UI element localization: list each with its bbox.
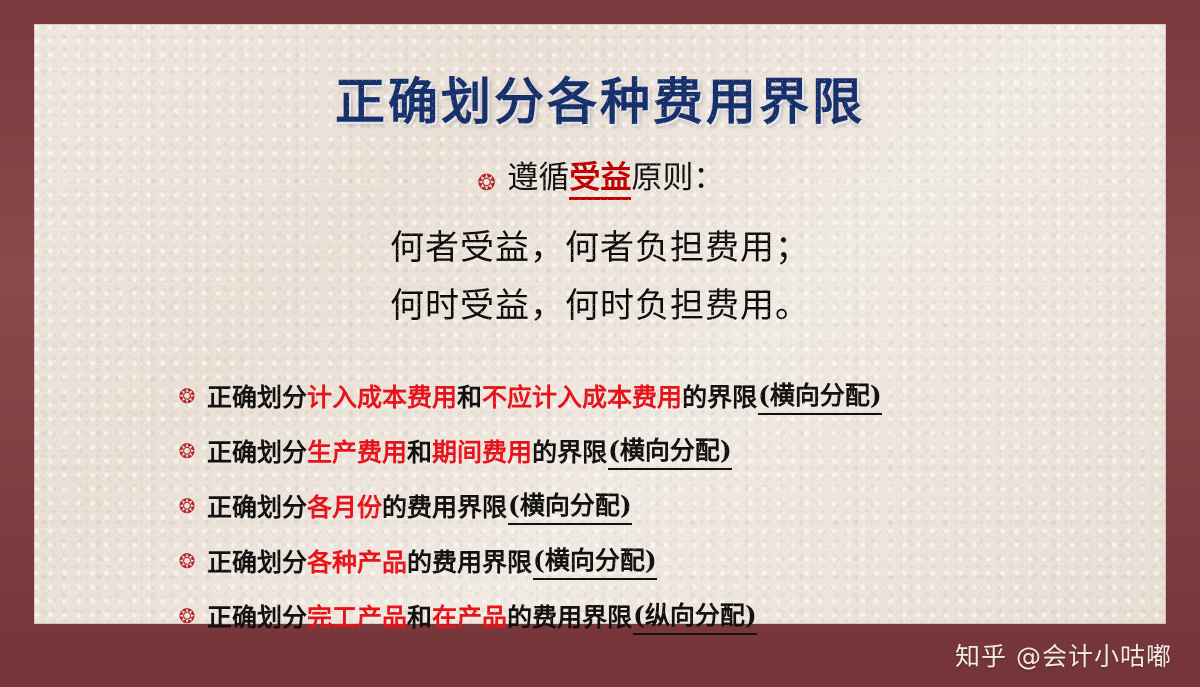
bullet-highlight-1: 各月份 [307, 488, 382, 524]
bullet-suffix: (横向分配) [533, 541, 657, 580]
list-item: ❂ 正确划分完工产品和在产品的费用界限(纵向分配) [176, 588, 1136, 643]
bullet-text-1: 正确划分 [207, 433, 307, 469]
page-title: 正确划分各种费用界限 [34, 62, 1166, 134]
list-item: ❂ 正确划分生产费用和期间费用的界限(横向分配) [176, 423, 1136, 478]
bullet-text-2: 和 [457, 378, 482, 414]
bullet-text-2: 和 [407, 598, 432, 634]
bullet-highlight-1: 各种产品 [307, 543, 407, 579]
bullet-highlight-2: 在产品 [432, 598, 507, 634]
slide-paper: 正确划分各种费用界限 ❂ 遵循受益原则： 何者受益，何者负担费用； 何时受益，何… [34, 24, 1166, 624]
principle-line: ❂ 遵循受益原则： [34, 152, 1166, 197]
bullet-text-1: 正确划分 [207, 378, 307, 414]
bullet-text-2: 和 [407, 433, 432, 469]
list-item: ❂ 正确划分各种产品的费用界限(横向分配) [176, 533, 1136, 588]
bullet-suffix: (横向分配) [758, 376, 882, 415]
bullet-suffix: (横向分配) [608, 431, 732, 470]
principle-keyword: 受益 [569, 160, 631, 200]
flower-icon: ❂ [176, 605, 198, 627]
principle-prefix: 遵循 [507, 160, 569, 196]
bullet-highlight-2: 期间费用 [432, 433, 532, 469]
flower-icon: ❂ [176, 550, 198, 572]
bullet-suffix: (纵向分配) [633, 596, 757, 635]
watermark: 知乎 @会计小咕嘟 [955, 637, 1172, 673]
bullet-text-1: 正确划分 [207, 598, 307, 634]
bullet-highlight-1: 完工产品 [307, 598, 407, 634]
bullet-text-3: 的界限 [682, 378, 757, 414]
principle-suffix: 原则： [631, 160, 724, 196]
bullet-text-1: 正确划分 [207, 543, 307, 579]
list-item: ❂ 正确划分各月份的费用界限(横向分配) [176, 478, 1136, 533]
maxim-line-2: 何时受益，何时负担费用。 [34, 278, 1166, 327]
bullet-highlight-2: 不应计入成本费用 [482, 378, 682, 414]
flower-icon: ❂ [176, 440, 198, 462]
bullet-text-3: 的费用界限 [507, 598, 632, 634]
bullet-highlight-1: 计入成本费用 [307, 378, 457, 414]
bullet-highlight-1: 生产费用 [307, 433, 407, 469]
bullet-text-1: 正确划分 [207, 488, 307, 524]
slide-root: 正确划分各种费用界限 ❂ 遵循受益原则： 何者受益，何者负担费用； 何时受益，何… [0, 0, 1200, 687]
flower-icon: ❂ [476, 173, 498, 195]
bullet-text-3: 的费用界限 [382, 488, 507, 524]
flower-icon: ❂ [176, 385, 198, 407]
bullet-text-3: 的界限 [532, 433, 607, 469]
maxim-line-1: 何者受益，何者负担费用； [34, 220, 1166, 269]
flower-icon: ❂ [176, 495, 198, 517]
list-item: ❂ 正确划分计入成本费用和不应计入成本费用的界限(横向分配) [176, 368, 1136, 423]
bullet-text-3: 的费用界限 [407, 543, 532, 579]
bullet-list: ❂ 正确划分计入成本费用和不应计入成本费用的界限(横向分配) ❂ 正确划分生产费… [176, 368, 1136, 643]
bullet-suffix: (横向分配) [508, 486, 632, 525]
